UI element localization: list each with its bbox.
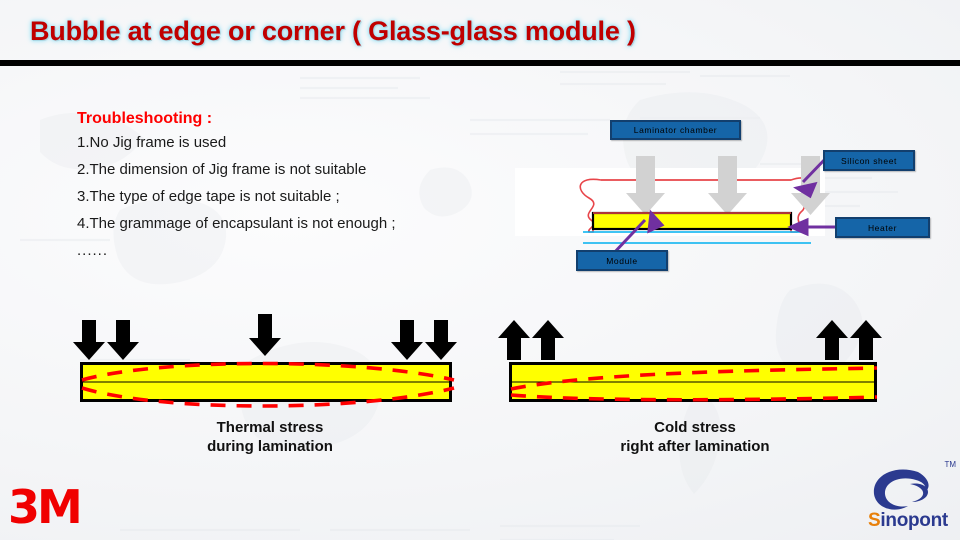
down-arrow-l2 — [107, 320, 139, 360]
down-arrow-center — [249, 314, 281, 356]
cold-caption-line2: right after lamination — [495, 437, 895, 456]
module-bar — [593, 213, 791, 229]
label-silicon-sheet[interactable]: Silicon sheet — [823, 150, 915, 171]
down-arrow-r1 — [391, 320, 423, 360]
page-title: Bubble at edge or corner ( Glass-glass m… — [30, 16, 636, 47]
thermal-caption: Thermal stress during lamination — [70, 418, 470, 456]
thermal-caption-line1: Thermal stress — [70, 418, 470, 437]
up-arrow-l1 — [498, 320, 530, 360]
troubleshooting-item-4: 4.The grammage of encapsulant is not eno… — [77, 216, 477, 231]
pressure-arrow-1 — [626, 156, 665, 215]
thermal-module-bar — [80, 362, 452, 402]
thermal-stress-panel: Thermal stress during lamination — [70, 312, 470, 492]
laminator-figure: Laminator chamber Silicon sheet Heater M… — [505, 108, 960, 284]
cold-module-midline — [512, 382, 874, 383]
sinopont-initial: S — [868, 510, 880, 531]
pressure-arrow-2 — [708, 156, 747, 215]
down-arrow-r2 — [425, 320, 457, 360]
sinopont-swoosh-icon — [858, 458, 958, 516]
label-laminator-chamber[interactable]: Laminator chamber — [610, 120, 741, 140]
up-arrow-r1 — [816, 320, 848, 360]
thermal-module-midline — [83, 382, 449, 383]
cold-caption: Cold stress right after lamination — [495, 418, 895, 456]
troubleshooting-item-3: 3.The type of edge tape is not suitable … — [77, 189, 477, 204]
thermal-caption-line2: during lamination — [70, 437, 470, 456]
label-module[interactable]: Module — [576, 250, 668, 271]
troubleshooting-item-1: 1.No Jig frame is used — [77, 135, 477, 150]
pressure-arrows-group — [626, 156, 830, 215]
up-arrow-r2 — [850, 320, 882, 360]
cold-stress-panel: Cold stress right after lamination — [495, 312, 895, 492]
troubleshooting-block: Troubleshooting : 1.No Jig frame is used… — [77, 110, 477, 258]
slide-canvas: Bubble at edge or corner ( Glass-glass m… — [0, 0, 960, 540]
troubleshooting-item-5: ...... — [77, 243, 477, 258]
logo-sinopont: TM Sinopont — [858, 458, 958, 534]
troubleshooting-item-2: 2.The dimension of Jig frame is not suit… — [77, 162, 477, 177]
sinopont-remainder: inopont — [880, 510, 948, 531]
troubleshooting-heading: Troubleshooting : — [77, 110, 477, 128]
cold-caption-line1: Cold stress — [495, 418, 895, 437]
sinopont-tm-mark: TM — [944, 460, 956, 469]
down-arrow-l1 — [73, 320, 105, 360]
up-arrow-l2 — [532, 320, 564, 360]
title-divider-rule — [0, 60, 960, 66]
logo-3m: 3M — [8, 484, 80, 530]
cold-module-bar — [509, 362, 877, 402]
title-area: Bubble at edge or corner ( Glass-glass m… — [0, 0, 960, 66]
sinopont-wordmark: Sinopont — [858, 510, 958, 532]
label-heater[interactable]: Heater — [835, 217, 930, 238]
